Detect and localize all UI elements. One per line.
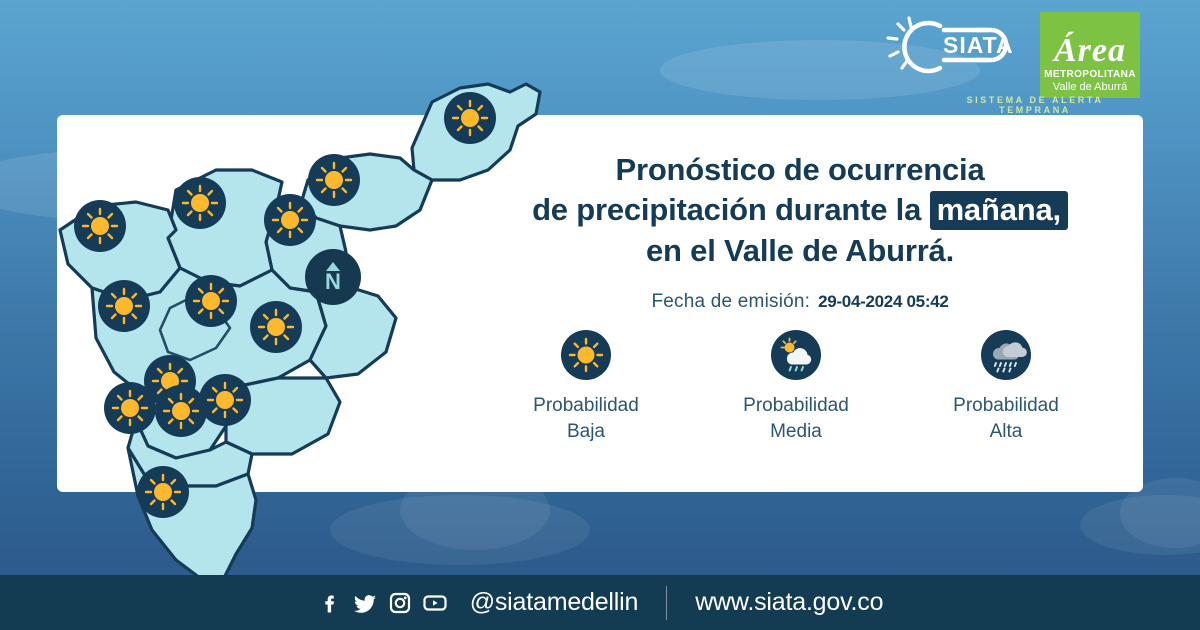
cloud-heavy-rain-icon xyxy=(981,330,1031,380)
map-marker-copacabana[interactable] xyxy=(264,194,316,246)
legend-label-alta: Probabilidad Alta xyxy=(953,393,1059,444)
footer-content: @siatamedellin www.siata.gov.co xyxy=(317,586,884,620)
compass-north-label: N xyxy=(325,272,341,292)
forecast-text-block: Pronóstico de ocurrencia de precipitació… xyxy=(470,150,1130,313)
map-marker-bello[interactable] xyxy=(174,177,226,229)
map-marker-guarne[interactable] xyxy=(250,301,302,353)
legend-label-media: Probabilidad Media xyxy=(743,393,849,444)
map-marker-san-jer-nimo[interactable] xyxy=(74,200,126,252)
emission-date-label: Fecha de emisión: xyxy=(651,291,810,313)
youtube-icon[interactable] xyxy=(422,590,448,616)
map-marker-caldas[interactable] xyxy=(137,466,189,518)
infographic-canvas: SIATA Área METROPOLITANA Valle de Aburrá… xyxy=(0,0,1200,630)
map-markers-layer: N xyxy=(0,0,1200,630)
emission-date-row: Fecha de emisión: 29-04-2024 05:42 xyxy=(470,291,1130,313)
legend-label-baja: Probabilidad Baja xyxy=(533,393,639,444)
map-marker-heliconia[interactable] xyxy=(98,280,150,332)
sun-icon xyxy=(561,330,611,380)
map-marker-la-estrella[interactable] xyxy=(104,382,156,434)
probability-legend: Probabilidad Baja xyxy=(486,330,1106,444)
footer-bar: @siatamedellin www.siata.gov.co xyxy=(0,575,1200,630)
page-title: Pronóstico de ocurrencia de precipitació… xyxy=(470,150,1130,271)
title-line-3: en el Valle de Aburrá. xyxy=(646,233,954,268)
footer-divider xyxy=(666,586,667,620)
social-handle[interactable]: @siatamedellin xyxy=(470,588,639,617)
title-line-2: de precipitación durante la xyxy=(532,192,921,227)
twitter-icon[interactable] xyxy=(352,590,378,616)
map-marker-barbosa[interactable] xyxy=(444,92,496,144)
title-highlight-manana: mañana, xyxy=(930,191,1068,230)
website-url[interactable]: www.siata.gov.co xyxy=(695,588,883,617)
map-marker-medell-n[interactable] xyxy=(185,275,237,327)
legend-item-alta: Probabilidad Alta xyxy=(906,330,1106,444)
emission-date-value: 29-04-2024 05:42 xyxy=(818,292,948,312)
sun-cloud-rain-icon xyxy=(771,330,821,380)
compass-north-icon: N xyxy=(305,249,361,305)
map-marker-sabaneta[interactable] xyxy=(155,385,207,437)
legend-item-baja: Probabilidad Baja xyxy=(486,330,686,444)
title-line-1: Pronóstico de ocurrencia xyxy=(615,152,984,187)
facebook-icon[interactable] xyxy=(317,590,343,616)
instagram-icon[interactable] xyxy=(387,590,413,616)
legend-item-media: Probabilidad Media xyxy=(696,330,896,444)
